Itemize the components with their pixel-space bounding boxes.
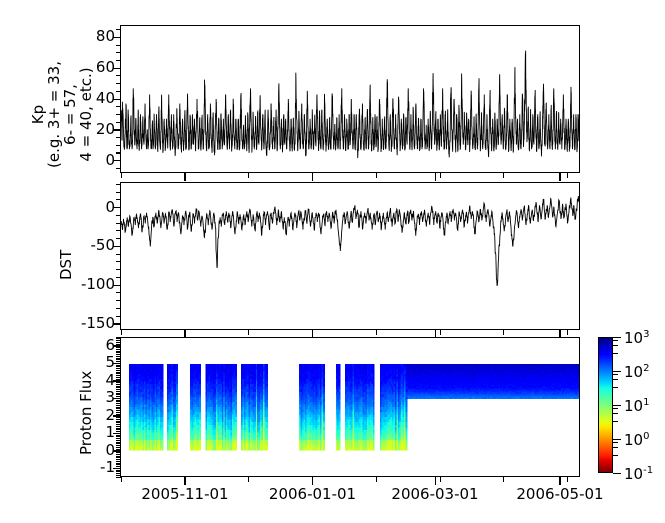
ytick-minor [116, 349, 121, 350]
ytick-minor [116, 454, 121, 455]
xtick-major [435, 173, 436, 181]
ytick-minor [116, 308, 121, 309]
dst-series-plot [121, 183, 579, 329]
ytick-minor [116, 344, 121, 345]
xtick-minor [503, 173, 504, 178]
xtick-label: 2006-05-01 [500, 487, 620, 502]
ytick-minor [116, 442, 121, 443]
xtick-minor [121, 330, 122, 335]
proton-flux-colorbar [598, 337, 613, 473]
xtick-minor [567, 173, 568, 178]
axis-label-line: (e.g. 3+ = 33, [46, 61, 62, 168]
xtick-minor [312, 330, 313, 335]
ytick-minor [116, 261, 121, 262]
colorbar-tick-major [613, 371, 621, 372]
ytick-minor [116, 401, 121, 402]
axis-label-line: Proton Flux [78, 371, 94, 455]
ytick-minor [116, 424, 121, 425]
axis-label-line: 6- = 57, [62, 61, 78, 168]
ytick-minor [116, 254, 121, 255]
ytick-minor [116, 337, 121, 338]
ytick-minor [116, 106, 121, 107]
ytick-minor [116, 300, 121, 301]
ytick-minor [116, 452, 121, 453]
ytick-minor [116, 29, 121, 30]
colorbar-tick-minor [613, 374, 618, 375]
ytick-minor [116, 373, 121, 374]
ytick-minor [116, 207, 121, 208]
ytick-minor [116, 394, 121, 395]
xtick-major [559, 173, 560, 181]
ytick-minor [116, 361, 121, 362]
ytick-minor [116, 396, 121, 397]
xtick-minor [121, 477, 122, 482]
xtick-minor [567, 330, 568, 335]
ytick-minor [116, 400, 121, 401]
xtick-minor [184, 173, 185, 178]
ytick-minor [116, 192, 121, 193]
ytick-minor [116, 435, 121, 436]
ytick-minor [116, 338, 121, 339]
flux-axis-label: Proton Flux [78, 371, 94, 455]
ytick-minor [116, 345, 121, 346]
xtick-major [559, 477, 560, 485]
ytick-minor [116, 380, 121, 381]
ytick-minor [116, 366, 121, 367]
xtick-minor [312, 173, 313, 178]
ytick-minor [116, 471, 121, 472]
ytick-minor [116, 410, 121, 411]
xtick-minor [440, 477, 441, 482]
ytick-minor [116, 152, 121, 153]
ytick-minor [116, 91, 121, 92]
ytick-minor [116, 393, 121, 394]
ytick-minor [116, 457, 121, 458]
xtick-minor [312, 477, 313, 482]
ytick-label: -1 [55, 460, 115, 475]
ytick-minor [116, 184, 121, 185]
series-path [121, 51, 579, 158]
xtick-minor [248, 330, 249, 335]
colorbar-tick-minor [613, 421, 618, 422]
ytick-minor [116, 422, 121, 423]
xtick-minor [248, 173, 249, 178]
xtick-minor [376, 477, 377, 482]
panel-dst [120, 182, 580, 330]
ytick-minor [116, 137, 121, 138]
ytick-minor [116, 199, 121, 200]
ytick-minor [116, 377, 121, 378]
colorbar-tick-minor [613, 379, 618, 380]
colorbar-tick-major [613, 405, 621, 406]
axis-label-line: DST [58, 250, 74, 280]
xtick-minor [184, 477, 185, 482]
colorbar-tick-minor [613, 413, 618, 414]
colorbar-tick-minor [613, 340, 618, 341]
ytick-minor [116, 68, 121, 69]
ytick-minor [116, 449, 121, 450]
ytick-minor [116, 431, 121, 432]
ytick-minor [116, 368, 121, 369]
ytick-minor [116, 52, 121, 53]
colorbar-tick-minor [613, 353, 618, 354]
ytick-minor [116, 463, 121, 464]
colorbar-tick-minor [613, 455, 618, 456]
xtick-minor [121, 173, 122, 178]
colorbar-tick-major [613, 473, 621, 474]
ytick-minor [116, 75, 121, 76]
ytick-minor [116, 45, 121, 46]
proton-flux-spectrogram [121, 338, 579, 476]
ytick-minor [116, 428, 121, 429]
ytick-minor [116, 145, 121, 146]
ytick-minor [116, 438, 121, 439]
ytick-minor [116, 375, 121, 376]
colorbar-tick-label: 10-1 [624, 463, 653, 482]
ytick-minor [116, 456, 121, 457]
ytick-minor [116, 316, 121, 317]
ytick-minor [116, 421, 121, 422]
xtick-minor [440, 330, 441, 335]
colorbar-tick-minor [613, 408, 618, 409]
ytick-minor [116, 464, 121, 465]
ytick-label: 0 [55, 200, 115, 215]
ytick-label: -150 [55, 316, 115, 331]
colorbar-tick-minor [613, 345, 618, 346]
colorbar-tick-label: 103 [624, 327, 649, 346]
ytick-minor [116, 412, 121, 413]
ytick-minor [116, 160, 121, 161]
ytick-minor [116, 269, 121, 270]
ytick-minor [116, 459, 121, 460]
ytick-minor [116, 417, 121, 418]
colorbar-tick-minor [613, 447, 618, 448]
panel-kp [120, 25, 580, 173]
ytick-minor [116, 473, 121, 474]
kp-axis-label: Kp(e.g. 3+ = 33,6- = 57,4 = 40, etc.) [30, 61, 94, 168]
ytick-minor [116, 447, 121, 448]
ytick-minor [116, 215, 121, 216]
ytick-minor [116, 347, 121, 348]
ytick-minor [116, 365, 121, 366]
ytick-minor [116, 407, 121, 408]
kp-series-plot [121, 26, 579, 172]
ytick-minor [116, 230, 121, 231]
ytick-minor [116, 292, 121, 293]
axis-label-line: 4 = 40, etc.) [78, 61, 94, 168]
ytick-minor [116, 342, 121, 343]
colorbar-tick-major [613, 439, 621, 440]
ytick-minor [116, 440, 121, 441]
ytick-minor [116, 370, 121, 371]
ytick-minor [116, 389, 121, 390]
xtick-label: 2005-11-01 [125, 487, 245, 502]
figure-root: 020406080 Kp(e.g. 3+ = 33,6- = 57,4 = 40… [0, 0, 665, 523]
ytick-minor [116, 408, 121, 409]
colorbar-tick-label: 100 [624, 429, 649, 448]
ytick-minor [116, 285, 121, 286]
xtick-minor [376, 330, 377, 335]
ytick-minor [116, 129, 121, 130]
ytick-minor [116, 114, 121, 115]
ytick-minor [116, 468, 121, 469]
colorbar-tick-label: 102 [624, 361, 649, 380]
ytick-minor [116, 354, 121, 355]
ytick-minor [116, 470, 121, 471]
xtick-minor [503, 330, 504, 335]
colorbar-tick-major [613, 337, 621, 338]
ytick-minor [116, 372, 121, 373]
ytick-minor [116, 168, 121, 169]
ytick-minor [116, 356, 121, 357]
ytick-minor [116, 37, 121, 38]
ytick-minor [116, 382, 121, 383]
ytick-minor [116, 403, 121, 404]
series-path [121, 196, 579, 286]
colorbar-tick-label: 101 [624, 395, 649, 414]
ytick-minor [116, 419, 121, 420]
ytick-minor [116, 277, 121, 278]
colorbar-tick-minor [613, 387, 618, 388]
ytick-label: 5 [55, 355, 115, 370]
ytick-minor [116, 60, 121, 61]
dst-axis-label: DST [58, 250, 74, 280]
xtick-major [435, 477, 436, 485]
xtick-label: 2006-03-01 [375, 487, 495, 502]
axis-label-line: Kp [30, 61, 46, 168]
ytick-minor [116, 323, 121, 324]
ytick-minor [116, 246, 121, 247]
spectrogram-cells [129, 364, 579, 451]
ytick-minor [116, 363, 121, 364]
ytick-minor [116, 340, 121, 341]
xtick-minor [503, 477, 504, 482]
ytick-minor [116, 351, 121, 352]
ytick-minor [116, 352, 121, 353]
ytick-minor [116, 436, 121, 437]
ytick-minor [116, 391, 121, 392]
ytick-minor [116, 359, 121, 360]
ytick-minor [116, 475, 121, 476]
ytick-minor [116, 443, 121, 444]
ytick-minor [116, 387, 121, 388]
ytick-label: 6 [55, 338, 115, 353]
ytick-minor [116, 379, 121, 380]
xtick-minor [567, 477, 568, 482]
xtick-minor [376, 173, 377, 178]
ytick-minor [116, 358, 121, 359]
xtick-minor [440, 173, 441, 178]
ytick-minor [116, 83, 121, 84]
ytick-minor [116, 445, 121, 446]
ytick-minor [116, 398, 121, 399]
ytick-minor [116, 433, 121, 434]
ytick-minor [116, 414, 121, 415]
ytick-minor [116, 450, 121, 451]
ytick-minor [116, 466, 121, 467]
ytick-minor [116, 122, 121, 123]
xtick-minor [184, 330, 185, 335]
ytick-minor [116, 426, 121, 427]
panel-proton-flux [120, 337, 580, 477]
colorbar-gradient [599, 338, 612, 472]
colorbar-tick-minor [613, 442, 618, 443]
ytick-minor [116, 223, 121, 224]
ytick-minor [116, 461, 121, 462]
xtick-label: 2006-01-01 [253, 487, 373, 502]
ytick-minor [116, 386, 121, 387]
xtick-minor [248, 477, 249, 482]
ytick-minor [116, 405, 121, 406]
ytick-minor [116, 415, 121, 416]
ytick-label: 80 [55, 29, 115, 44]
ytick-minor [116, 238, 121, 239]
ytick-minor [116, 384, 121, 385]
ytick-minor [116, 99, 121, 100]
ytick-minor [116, 429, 121, 430]
